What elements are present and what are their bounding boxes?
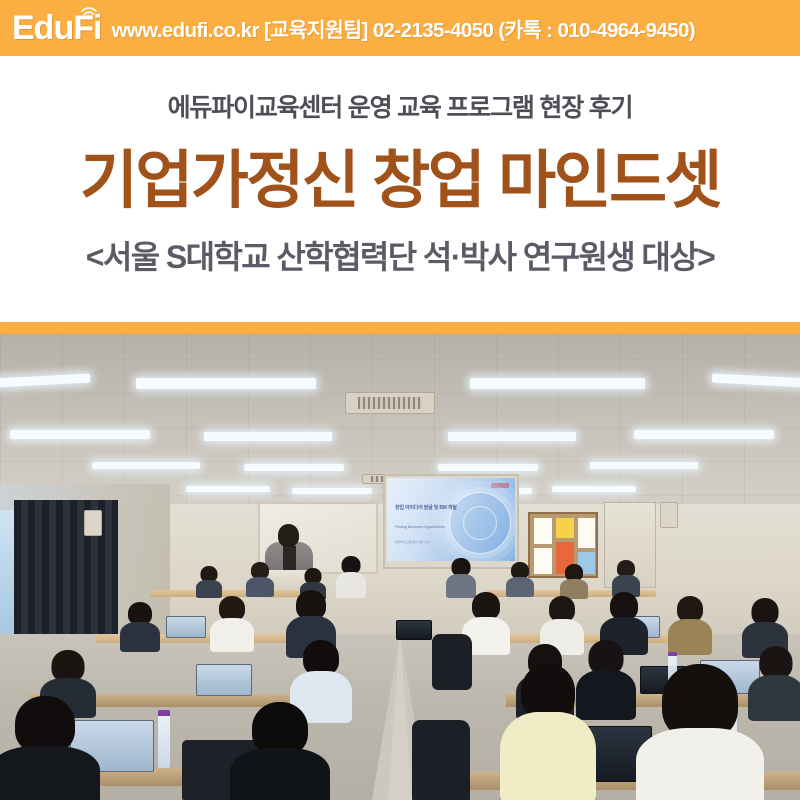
slide-footer: 에듀파이교육센터 대표 강사 — [395, 540, 430, 544]
slide-title: 창업 아이디어 발굴 및 BM 개발 — [395, 504, 457, 512]
title-block: 에듀파이교육센터 운영 교육 프로그램 현장 후기 기업가정신 창업 마인드셋 … — [0, 56, 800, 322]
bottle-cap — [158, 710, 170, 716]
ceiling-lamp — [92, 462, 200, 469]
ceiling-lamp — [10, 430, 150, 439]
audience-member — [742, 598, 788, 652]
laptop — [166, 616, 206, 638]
ceiling-lamp — [634, 430, 774, 439]
audience-member — [230, 702, 330, 800]
audience-member — [246, 562, 274, 596]
audience-member — [446, 558, 476, 596]
presenter-head — [278, 524, 299, 547]
laptop — [396, 620, 432, 640]
contact-info[interactable]: www.edufi.co.kr [교육지원팀] 02-2135-4050 (카톡… — [111, 13, 695, 43]
laptop — [196, 664, 252, 696]
ceiling-vent — [345, 392, 435, 414]
page-title: 기업가정신 창업 마인드셋 — [80, 146, 720, 216]
audience-member — [668, 596, 712, 650]
audience-member — [560, 564, 588, 598]
slide-logo — [491, 483, 509, 488]
ceiling-lamp — [552, 486, 636, 492]
kicker-text: 에듀파이교육센터 운영 교육 프로그램 현장 후기 — [168, 88, 633, 124]
poster-canvas: EduFi www.edufi.co.kr [교육지원팀] 02-2135-40… — [0, 0, 800, 800]
ceiling-lamp — [470, 378, 645, 389]
audience-member — [506, 562, 534, 596]
ceiling-lamp — [292, 488, 372, 494]
slide-graphic — [449, 492, 511, 554]
ceiling-lamp — [438, 464, 538, 471]
edufi-logo[interactable]: EduFi — [12, 10, 101, 46]
water-bottle — [158, 716, 170, 768]
audience-member — [210, 596, 254, 648]
ceiling-lamp — [136, 378, 316, 389]
center-aisle-highlight — [388, 634, 412, 800]
projector-screen: 창업 아이디어 발굴 및 BM 개발 Finding Business Oppo… — [387, 478, 515, 561]
wall-speaker — [660, 502, 678, 528]
lecture-hall-photo: 창업 아이디어 발굴 및 BM 개발 Finding Business Oppo… — [0, 334, 800, 800]
audience-member — [120, 602, 160, 648]
wifi-icon — [79, 4, 99, 20]
ceiling-lamp — [244, 464, 344, 471]
backpack — [412, 720, 470, 800]
audience-subtitle: <서울 S대학교 산학협력단 석·박사 연구원생 대상> — [86, 232, 714, 278]
audience-member — [196, 566, 222, 596]
wall-speaker — [84, 510, 102, 536]
header-bar: EduFi www.edufi.co.kr [교육지원팀] 02-2135-40… — [0, 0, 800, 56]
backpack — [432, 634, 472, 690]
audience-member — [336, 556, 366, 596]
ceiling-lamp — [590, 462, 698, 469]
slide-subtitle: Finding Business Opportunities — [395, 524, 445, 530]
ceiling-lamp — [186, 486, 270, 492]
audience-member — [636, 664, 764, 800]
ceiling-lamp — [448, 432, 576, 441]
bottle-cap — [668, 652, 677, 656]
audience-member — [0, 696, 100, 800]
ceiling-lamp — [204, 432, 332, 441]
audience-member — [612, 560, 640, 596]
orange-divider — [0, 322, 800, 334]
audience-member — [500, 664, 596, 800]
